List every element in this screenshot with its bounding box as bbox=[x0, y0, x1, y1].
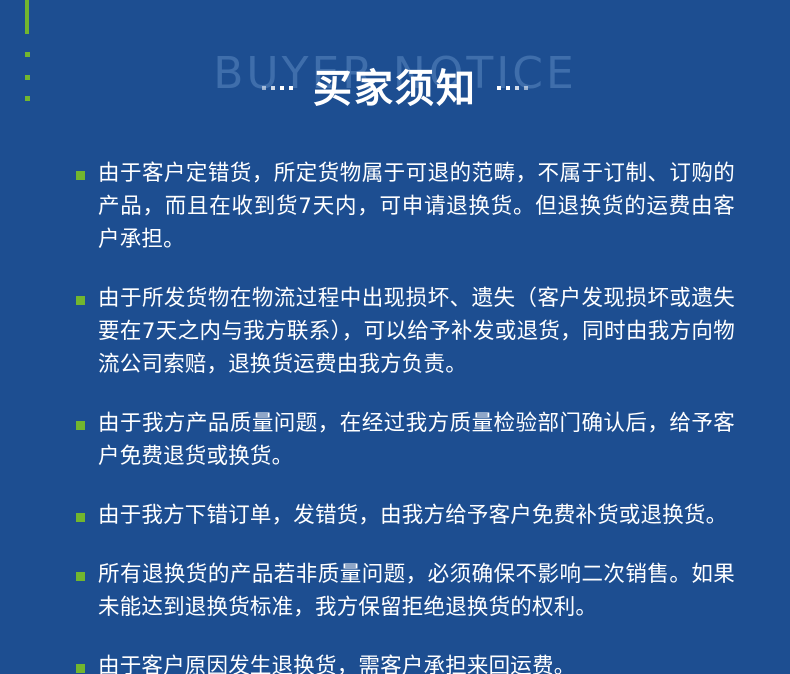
notice-text: 由于我方下错订单，发错货，由我方给予客户免费补货或退换货。 bbox=[98, 499, 735, 532]
notice-text: 由于我方产品质量问题，在经过我方质量检验部门确认后，给予客户免费退货或换货。 bbox=[98, 407, 735, 473]
list-item: 由于客户原因发生退换货，需客户承担来回运费。 bbox=[0, 650, 790, 674]
title-row: 买家须知 bbox=[0, 70, 790, 109]
square-bullet-icon bbox=[76, 171, 85, 180]
list-item: 由于所发货物在物流过程中出现损坏、遗失（客户发现损坏或遗失要在7天之内与我方联系… bbox=[0, 282, 790, 381]
notice-list: 由于客户定错货，所定货物属于可退的范畴，不属于订制、订购的产品，而且在收到货7天… bbox=[0, 157, 790, 674]
dots-decoration-right bbox=[497, 86, 528, 94]
dots-decoration-left bbox=[262, 86, 293, 94]
list-item: 由于客户定错货，所定货物属于可退的范畴，不属于订制、订购的产品，而且在收到货7天… bbox=[0, 157, 790, 256]
notice-text: 由于所发货物在物流过程中出现损坏、遗失（客户发现损坏或遗失要在7天之内与我方联系… bbox=[98, 282, 735, 381]
dot-icon bbox=[262, 86, 266, 90]
notice-text: 所有退换货的产品若非质量问题，必须确保不影响二次销售。如果未能达到退换货标准，我… bbox=[98, 558, 735, 624]
notice-text: 由于客户定错货，所定货物属于可退的范畴，不属于订制、订购的产品，而且在收到货7天… bbox=[98, 157, 735, 256]
square-bullet-icon bbox=[76, 513, 85, 522]
dot-icon bbox=[289, 86, 293, 90]
square-bullet-icon bbox=[76, 572, 85, 581]
dot-icon bbox=[515, 86, 519, 90]
dot-icon bbox=[524, 86, 528, 90]
square-bullet-icon bbox=[76, 296, 85, 305]
dot-icon bbox=[280, 86, 284, 90]
page-title: 买家须知 bbox=[313, 70, 477, 109]
square-bullet-icon bbox=[76, 664, 85, 673]
dot-icon bbox=[497, 86, 501, 90]
dot-icon bbox=[271, 86, 275, 90]
page-header: BUYER NOTICE 买家须知 bbox=[0, 0, 790, 140]
dot-icon bbox=[506, 86, 510, 90]
list-item: 所有退换货的产品若非质量问题，必须确保不影响二次销售。如果未能达到退换货标准，我… bbox=[0, 558, 790, 624]
buyer-notice-page: BUYER NOTICE 买家须知 由于客户定错货，所定货物属于可退的范畴，不属… bbox=[0, 0, 790, 674]
list-item: 由于我方产品质量问题，在经过我方质量检验部门确认后，给予客户免费退货或换货。 bbox=[0, 407, 790, 473]
notice-text: 由于客户原因发生退换货，需客户承担来回运费。 bbox=[98, 650, 735, 674]
square-bullet-icon bbox=[76, 421, 85, 430]
list-item: 由于我方下错订单，发错货，由我方给予客户免费补货或退换货。 bbox=[0, 499, 790, 532]
